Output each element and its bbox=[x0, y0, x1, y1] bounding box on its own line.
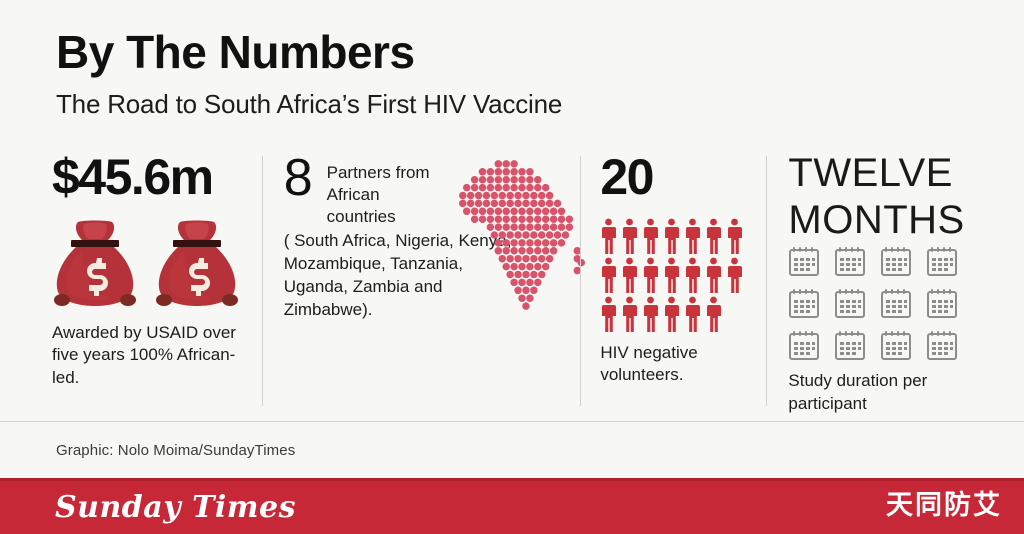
duration-caption: Study duration per participant bbox=[788, 370, 994, 415]
person-icon bbox=[621, 257, 638, 293]
infographic-canvas: By The Numbers The Road to South Africa’… bbox=[0, 0, 1024, 534]
volunteers-caption: HIV negative volunteers. bbox=[600, 342, 766, 387]
stat-column-volunteers: 20 bbox=[580, 152, 766, 410]
calendar-icon bbox=[880, 246, 912, 276]
calendar-icon bbox=[834, 246, 866, 276]
sunday-times-logo: Sunday Times bbox=[55, 490, 296, 525]
calendar-icon bbox=[788, 246, 820, 276]
person-icon bbox=[663, 218, 680, 254]
calendar-icon bbox=[880, 288, 912, 318]
person-icon-group bbox=[600, 218, 766, 332]
money-bag-group bbox=[52, 218, 248, 308]
funding-caption: Awarded by USAID over five years 100% Af… bbox=[52, 322, 248, 389]
calendar-icon bbox=[834, 330, 866, 360]
person-icon bbox=[684, 218, 701, 254]
page-subtitle: The Road to South Africa’s First HIV Vac… bbox=[56, 90, 956, 119]
person-icon-row bbox=[600, 296, 766, 332]
volunteers-figure: 20 bbox=[600, 152, 766, 202]
person-icon bbox=[663, 296, 680, 332]
person-icon bbox=[621, 296, 638, 332]
person-icon bbox=[684, 296, 701, 332]
person-icon bbox=[705, 218, 722, 254]
calendar-icon bbox=[880, 330, 912, 360]
person-icon bbox=[600, 296, 617, 332]
person-icon bbox=[705, 257, 722, 293]
calendar-icon-group bbox=[788, 246, 994, 360]
footer-bar: Sunday Times 天同防艾 bbox=[0, 481, 1024, 534]
person-icon bbox=[684, 257, 701, 293]
stat-column-duration: TWELVE MONTHS Study duration per partici… bbox=[766, 152, 994, 410]
person-icon bbox=[726, 257, 743, 293]
page-title: By The Numbers bbox=[56, 28, 956, 76]
person-icon bbox=[642, 218, 659, 254]
duration-figure-line2: MONTHS bbox=[788, 199, 994, 242]
person-icon-row bbox=[600, 218, 766, 254]
calendar-icon bbox=[926, 330, 958, 360]
column-divider bbox=[262, 156, 263, 406]
person-icon bbox=[726, 218, 743, 254]
calendar-icon bbox=[788, 330, 820, 360]
person-icon bbox=[663, 257, 680, 293]
stats-columns: $45.6m bbox=[52, 152, 994, 410]
person-icon bbox=[621, 218, 638, 254]
stat-column-funding: $45.6m bbox=[52, 152, 262, 410]
person-icon-row bbox=[600, 257, 766, 293]
person-icon bbox=[705, 296, 722, 332]
calendar-icon bbox=[788, 288, 820, 318]
column-divider bbox=[766, 156, 767, 406]
money-bag-icon bbox=[52, 218, 138, 308]
person-icon bbox=[600, 257, 617, 293]
funding-figure: $45.6m bbox=[52, 152, 248, 202]
calendar-icon bbox=[926, 246, 958, 276]
africa-map-icon bbox=[446, 156, 598, 314]
duration-figure-line1: TWELVE bbox=[788, 152, 994, 195]
person-icon bbox=[642, 296, 659, 332]
graphic-credit: Graphic: Nolo Moima/SundayTimes bbox=[56, 442, 295, 459]
person-icon bbox=[600, 218, 617, 254]
column-divider bbox=[580, 156, 581, 406]
partners-figure: 8 bbox=[284, 152, 313, 204]
watermark-text: 天同防艾 bbox=[886, 483, 1002, 522]
person-icon bbox=[642, 257, 659, 293]
footer-divider bbox=[0, 421, 1024, 422]
calendar-icon bbox=[926, 288, 958, 318]
stat-column-partners: 8 Partners from African countries ( Sout… bbox=[262, 152, 581, 410]
calendar-icon bbox=[834, 288, 866, 318]
money-bag-icon bbox=[154, 218, 240, 308]
header: By The Numbers The Road to South Africa’… bbox=[56, 28, 956, 119]
partners-label: Partners from African countries bbox=[327, 152, 439, 228]
